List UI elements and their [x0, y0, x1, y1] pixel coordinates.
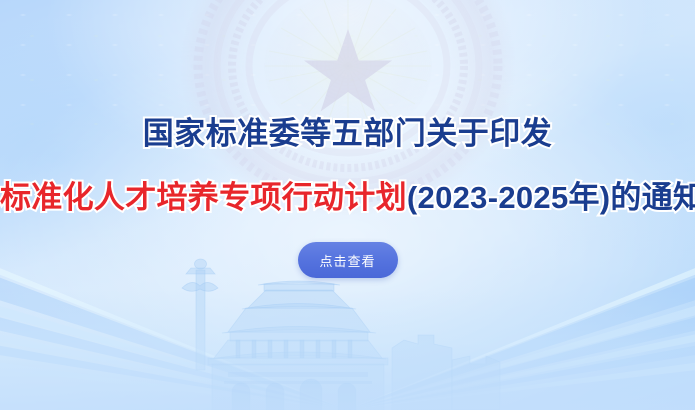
banner-subtitle-tail: 的通知 — [610, 180, 695, 215]
banner-content: 国家标准委等五部门关于印发 标准化人才培养专项行动计划(2023-2025年)的… — [0, 0, 695, 410]
banner-subtitle-period: (2023-2025年) — [407, 180, 611, 215]
banner-subtitle: 标准化人才培养专项行动计划(2023-2025年)的通知 — [0, 182, 695, 213]
banner-headline: 国家标准委等五部门关于印发 — [0, 118, 695, 149]
policy-announcement-banner: 国家标准委等五部门关于印发 标准化人才培养专项行动计划(2023-2025年)的… — [0, 0, 695, 410]
banner-subtitle-highlight: 标准化人才培养专项行动计划 — [0, 180, 407, 215]
view-detail-button[interactable]: 点击查看 — [298, 242, 398, 278]
